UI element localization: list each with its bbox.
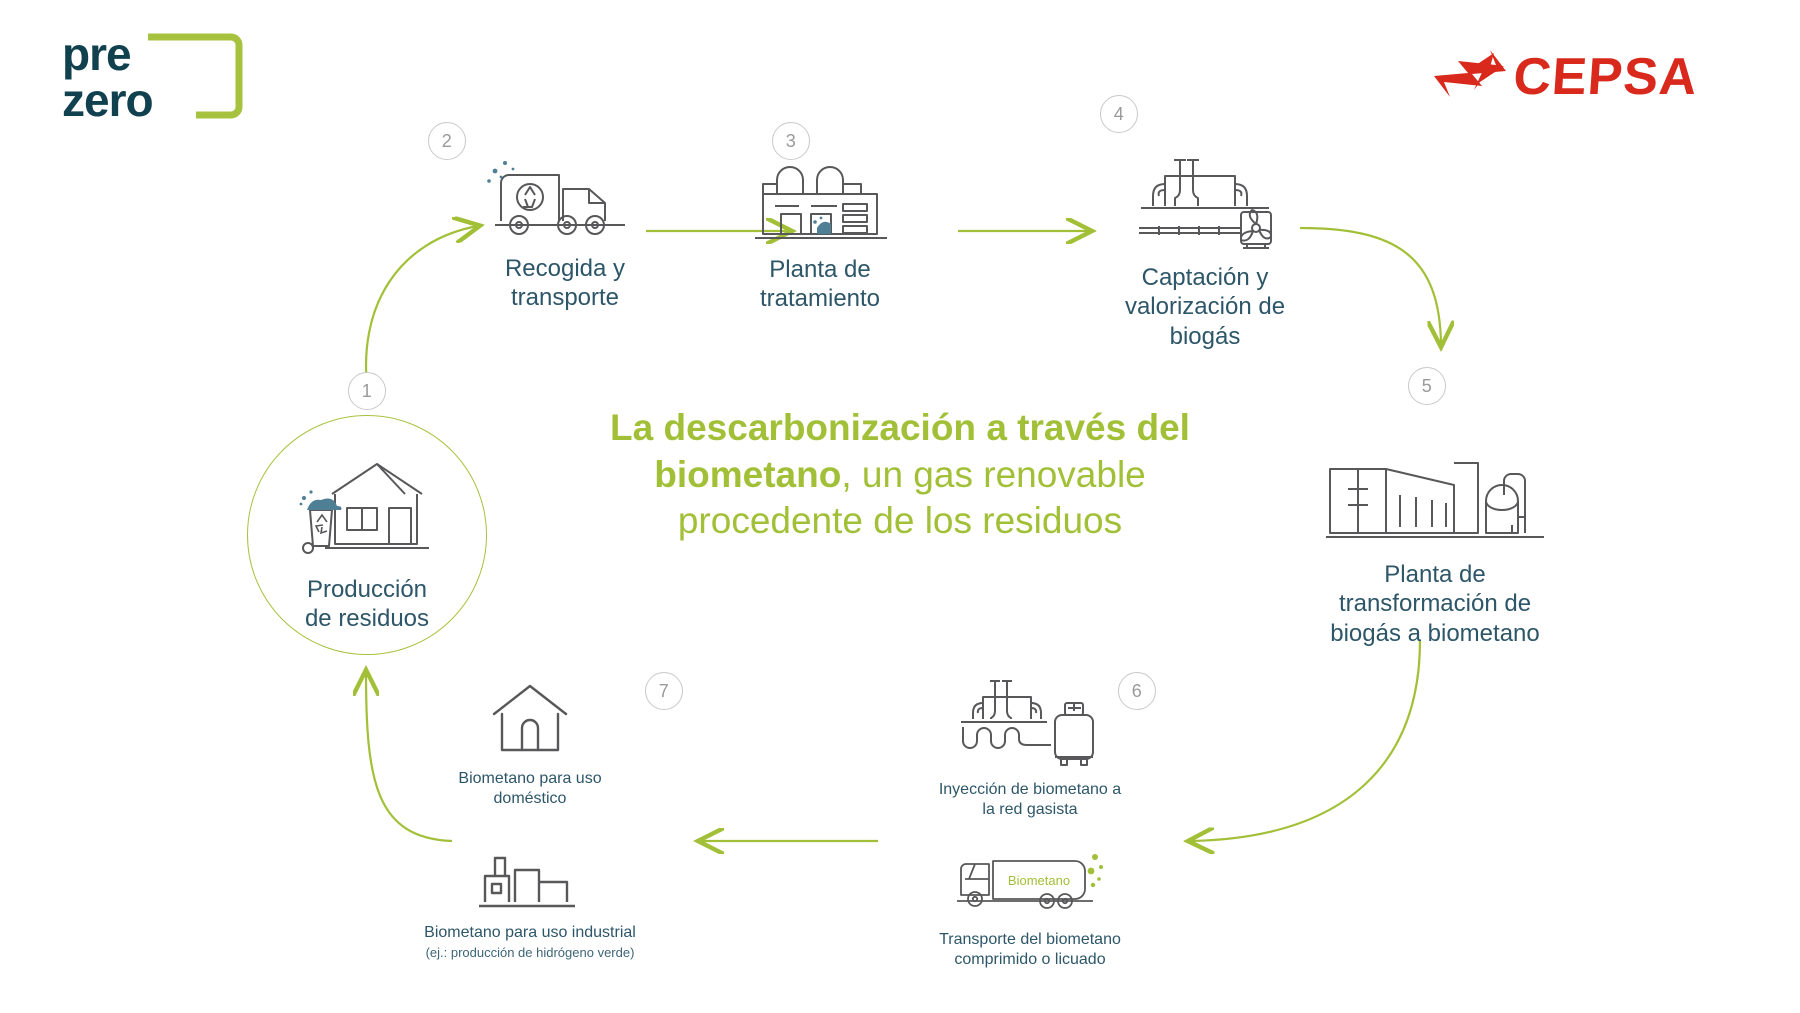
step-1-label: Producción de residuos	[242, 575, 492, 634]
step-node-inyeccion-de-biometano[interactable]: Inyección de biometano a la red gasista	[895, 675, 1165, 819]
svg-text:pre: pre	[62, 30, 131, 80]
home-icon	[390, 680, 670, 761]
node-industrial-label: Biometano para uso industrial	[390, 923, 670, 943]
step-2-label: Recogida y transporte	[445, 254, 685, 313]
upgrading-plant-icon	[1290, 455, 1580, 552]
step-number-3: 3	[772, 122, 810, 160]
step-node-planta-de-tratamiento[interactable]: Planta de tratamiento	[690, 160, 950, 314]
infographic-canvas: pre zero CEPSA	[0, 0, 1800, 1013]
gas-grid-injection-icon	[895, 675, 1165, 772]
node-transporte-biometano[interactable]: Biometano Transporte del biometano compr…	[895, 845, 1165, 969]
node-industrial-sublabel: (ej.: producción de hidrógeno verde)	[390, 945, 670, 960]
step-7-label: Biometano para uso doméstico	[390, 769, 670, 808]
svg-text:zero: zero	[62, 74, 153, 122]
step-5-label: Planta de transformación de biogás a bio…	[1290, 560, 1580, 648]
step-number-4: 4	[1100, 95, 1138, 133]
prezero-logo: pre zero	[62, 30, 272, 122]
step-node-planta-de-transformacion[interactable]: Planta de transformación de biogás a bio…	[1290, 455, 1580, 648]
house-with-recycling-bin-icon	[242, 452, 492, 567]
step-number-1: 1	[348, 372, 386, 410]
biomethane-tanker-truck-icon: Biometano	[895, 845, 1165, 922]
industrial-plant-icon	[390, 848, 670, 915]
step-3-label: Planta de tratamiento	[690, 255, 950, 314]
step-node-biometano-uso-domestico[interactable]: Biometano para uso doméstico	[390, 680, 670, 808]
treatment-plant-icon	[690, 160, 950, 247]
biogas-capture-plant-icon	[1075, 150, 1335, 255]
svg-text:CEPSA: CEPSA	[1512, 48, 1700, 104]
cepsa-logo: CEPSA	[1430, 42, 1740, 104]
step-6-label: Inyección de biometano a la red gasista	[895, 780, 1165, 819]
step-node-captacion-y-valorizacion-de-biogas[interactable]: Captación y valorización de biogás	[1075, 150, 1335, 351]
page-title: La descarbonización a través del biometa…	[560, 405, 1240, 545]
truck-body-text: Biometano	[1008, 873, 1070, 888]
step-node-recogida-y-transporte[interactable]: Recogida y transporte	[445, 155, 685, 313]
step-node-producción-de-residuos[interactable]: Producción de residuos	[242, 452, 492, 634]
step-4-label: Captación y valorización de biogás	[1075, 263, 1335, 351]
garbage-truck-icon	[445, 155, 685, 246]
node-transporte-label: Transporte del biometano comprimido o li…	[895, 930, 1165, 969]
step-number-5: 5	[1408, 367, 1446, 405]
node-biometano-industrial[interactable]: Biometano para uso industrial (ej.: prod…	[390, 848, 670, 960]
